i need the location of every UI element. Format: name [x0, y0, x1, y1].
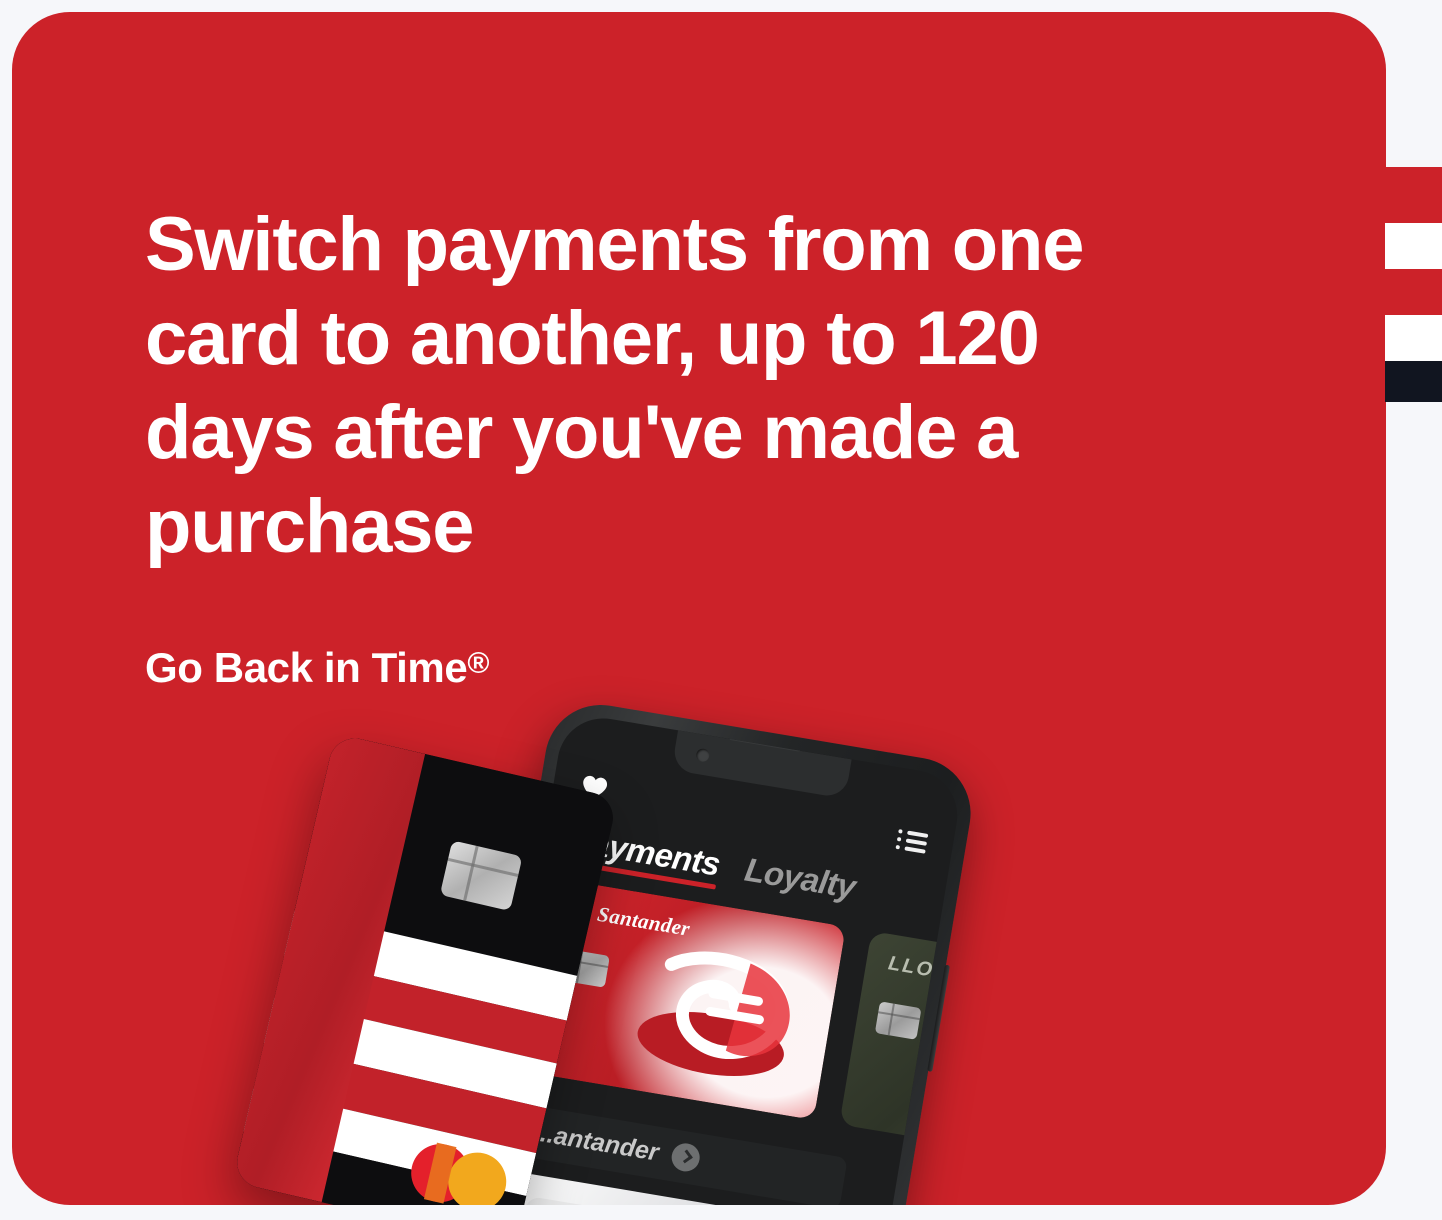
lloyds-brand-label: LLOYDS [887, 952, 965, 990]
promo-banner-root: Switch payments from one card to another… [0, 0, 1442, 1220]
page-title: Switch payments from one card to another… [145, 198, 1205, 574]
emv-chip-icon [875, 1001, 922, 1039]
promo-subtitle: Go Back in Time® [145, 639, 489, 693]
registered-trademark-mark: ® [467, 647, 489, 680]
santander-flame-artwork [613, 922, 815, 1100]
list-icon[interactable] [895, 828, 928, 855]
product-illustration: Payments Loyalty Santander [12, 712, 1386, 1205]
tab-loyalty[interactable]: Loyalty [741, 852, 858, 913]
edge-peek-card [1385, 167, 1442, 402]
phone-camera [695, 748, 710, 763]
promo-panel: Switch payments from one card to another… [12, 12, 1386, 1205]
list-item-label: ...antander [531, 1118, 660, 1167]
promo-subtitle-text: Go Back in Time [145, 644, 467, 691]
chevron-right-icon[interactable] [670, 1141, 702, 1173]
